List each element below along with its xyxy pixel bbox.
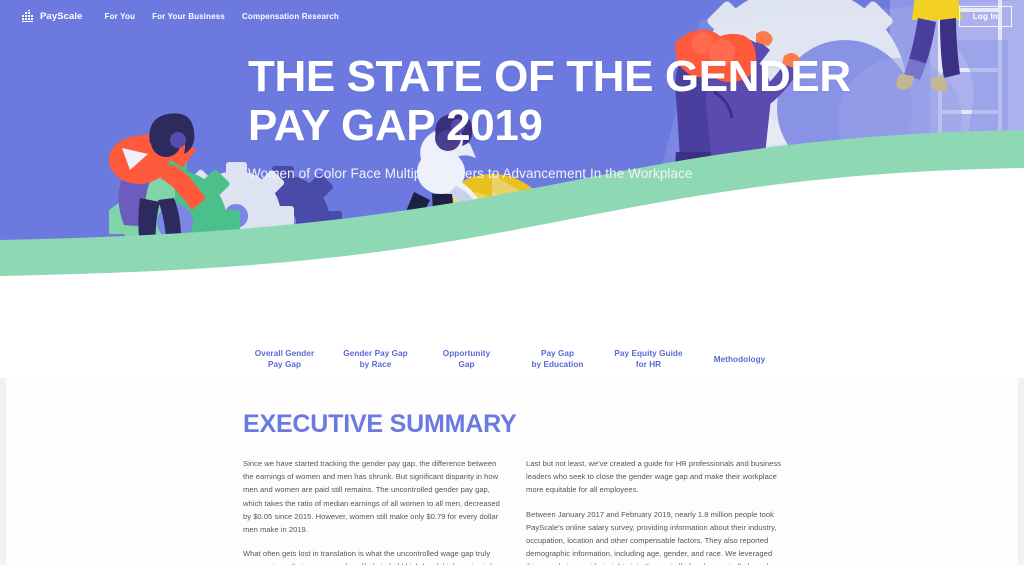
summary-paragraph: Last but not least, we've created a guid… <box>526 457 783 497</box>
brand-logo[interactable]: PayScale <box>22 10 83 22</box>
section-link-line1: Methodology <box>714 355 766 364</box>
hero-title-line-2: PAY GAP 2019 <box>248 101 542 150</box>
section-link-line1: Pay Gap <box>541 349 574 358</box>
hero-title-line-1: THE STATE OF THE GENDER <box>248 52 851 101</box>
summary-paragraph: What often gets lost in translation is w… <box>243 547 500 565</box>
log-in-button[interactable]: Log In <box>959 6 1012 27</box>
section-link-line1: Overall Gender <box>255 349 314 358</box>
top-navigation-bar: PayScale For You For Your Business Compe… <box>0 0 1024 32</box>
hero-copy-block: THE STATE OF THE GENDER PAY GAP 2019 Wom… <box>248 52 851 181</box>
summary-left-column: Since we have started tracking the gende… <box>243 457 500 565</box>
section-link-line1: Pay Equity Guide <box>614 349 682 358</box>
hero-subtitle: Women of Color Face Multiple Barriers to… <box>248 166 851 181</box>
section-link-line2: by Race <box>360 360 392 369</box>
section-link-overall-gender-pay-gap[interactable]: Overall Gender Pay Gap <box>239 348 330 370</box>
section-link-line1: Gender Pay Gap <box>343 349 407 358</box>
section-link-pay-gap-by-education[interactable]: Pay Gap by Education <box>512 348 603 370</box>
executive-summary-section: EXECUTIVE SUMMARY Since we have started … <box>243 410 783 565</box>
summary-columns: Since we have started tracking the gende… <box>243 457 783 565</box>
section-link-line1: Opportunity <box>443 349 490 358</box>
section-link-gender-pay-gap-by-race[interactable]: Gender Pay Gap by Race <box>330 348 421 370</box>
payscale-bar-logo-icon <box>22 10 35 22</box>
nav-link-for-you[interactable]: For You <box>105 12 136 21</box>
right-gutter <box>1018 378 1024 565</box>
hero-banner: PayScale For You For Your Business Compe… <box>0 0 1024 340</box>
section-link-opportunity-gap[interactable]: Opportunity Gap <box>421 348 512 370</box>
summary-paragraph: Since we have started tracking the gende… <box>243 457 500 536</box>
nav-link-compensation-research[interactable]: Compensation Research <box>242 12 339 21</box>
section-link-line2: Pay Gap <box>268 360 301 369</box>
section-link-line2: Gap <box>458 360 474 369</box>
nav-links-group: For You For Your Business Compensation R… <box>105 12 339 21</box>
section-link-pay-equity-guide-for-hr[interactable]: Pay Equity Guide for HR <box>603 348 694 370</box>
nav-link-for-your-business[interactable]: For Your Business <box>152 12 225 21</box>
brand-name-label: PayScale <box>40 11 83 22</box>
page-title: THE STATE OF THE GENDER PAY GAP 2019 <box>248 52 851 150</box>
summary-right-column: Last but not least, we've created a guid… <box>526 457 783 565</box>
executive-summary-heading: EXECUTIVE SUMMARY <box>243 410 783 439</box>
section-navigation: Overall Gender Pay Gap Gender Pay Gap by… <box>0 340 1024 378</box>
page-root: PayScale For You For Your Business Compe… <box>0 0 1024 565</box>
section-link-methodology[interactable]: Methodology <box>694 354 785 365</box>
summary-paragraph: Between January 2017 and February 2019, … <box>526 508 783 565</box>
section-link-line2: by Education <box>531 360 583 369</box>
section-link-line2: for HR <box>636 360 661 369</box>
left-gutter <box>0 378 6 565</box>
